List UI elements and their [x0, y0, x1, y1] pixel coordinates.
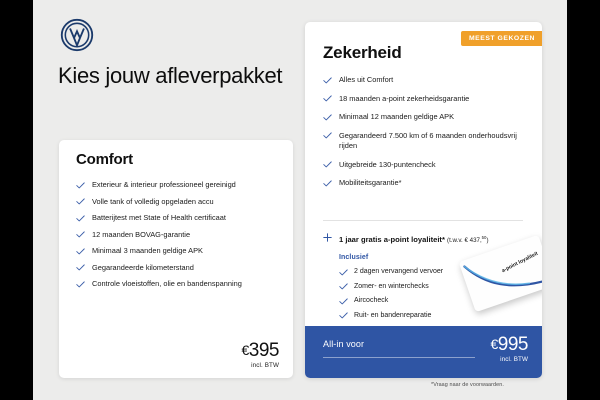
- list-item-label: Minimaal 12 maanden geldige APK: [339, 112, 454, 121]
- check-icon: [339, 269, 348, 276]
- list-item: 18 maanden a-point zekerheidsgarantie: [323, 94, 531, 105]
- volkswagen-logo-icon: [60, 18, 94, 52]
- list-item: Exterieur & interieur professioneel gere…: [76, 180, 281, 191]
- list-item-label: Ruit- en bandenreparatie: [354, 312, 431, 319]
- loyalty-bonus-value: (t.w.v. € 437,50): [447, 237, 488, 244]
- list-item: Minimaal 12 maanden geldige APK: [323, 112, 531, 123]
- page-title: Kies jouw afleverpakket: [58, 62, 308, 89]
- disclaimer-text: *Vraag naar de voorwaarden.: [431, 382, 567, 388]
- list-item: Ruit- en bandenreparatie: [339, 311, 489, 320]
- loyalty-card-image: a-point loyaliteit: [459, 235, 542, 312]
- zekerheid-card-title: Zekerheid: [323, 43, 402, 63]
- list-item: Controle vloeistoffen, olie en bandenspa…: [76, 279, 281, 290]
- list-item-label: Alles uit Comfort: [339, 75, 393, 84]
- check-icon: [323, 114, 332, 121]
- list-item-label: Batterijtest met State of Health certifi…: [92, 213, 226, 222]
- comfort-price-note: incl. BTW: [242, 362, 280, 369]
- list-item-label: Exterieur & interieur professioneel gere…: [92, 180, 236, 189]
- list-item-label: Mobiliteitsgarantie*: [339, 178, 401, 187]
- list-item-label: 12 maanden BOVAG-garantie: [92, 230, 190, 239]
- zekerheid-price-block: €995 incl. BTW: [491, 334, 529, 363]
- comfort-price: €395: [242, 340, 280, 361]
- comfort-card-title: Comfort: [76, 151, 133, 168]
- list-item: 12 maanden BOVAG-garantie: [76, 230, 281, 241]
- list-item-label: Controle vloeistoffen, olie en bandenspa…: [92, 279, 242, 288]
- list-item: Minimaal 3 maanden geldige APK: [76, 246, 281, 257]
- check-icon: [76, 248, 85, 255]
- footer-rule: [323, 357, 475, 358]
- list-item-label: 18 maanden a-point zekerheidsgarantie: [339, 94, 469, 103]
- comfort-feature-list: Exterieur & interieur professioneel gere…: [76, 180, 281, 296]
- list-item-label: Uitgebreide 130-puntencheck: [339, 160, 436, 169]
- check-icon: [339, 283, 348, 290]
- list-item-label: Aircocheck: [354, 297, 388, 304]
- list-item: Volle tank of volledig opgeladen accu: [76, 197, 281, 208]
- list-item-label: Minimaal 3 maanden geldige APK: [92, 246, 203, 255]
- price-amount: 995: [498, 334, 528, 355]
- list-item-label: Volle tank of volledig opgeladen accu: [92, 197, 214, 206]
- status-badge-most-chosen: MEEST GEKOZEN: [461, 31, 542, 46]
- promo-frame: Kies jouw afleverpakket Comfort Exterieu…: [33, 0, 567, 400]
- section-divider: [323, 220, 523, 221]
- loyalty-bonus-label: 1 jaar gratis a-point loyaliteit*: [339, 235, 445, 244]
- check-icon: [76, 231, 85, 238]
- list-item: Uitgebreide 130-puntencheck: [323, 160, 531, 171]
- check-icon: [76, 264, 85, 271]
- currency-symbol: €: [491, 336, 498, 352]
- zekerheid-price: €995: [491, 334, 529, 355]
- check-icon: [76, 281, 85, 288]
- footer-price-label: All-in voor: [323, 339, 364, 349]
- list-item: Batterijtest met State of Health certifi…: [76, 213, 281, 224]
- list-item: Mobiliteitsgarantie*: [323, 178, 531, 189]
- check-icon: [76, 198, 85, 205]
- check-icon: [323, 132, 332, 139]
- list-item: Gegarandeerd 7.500 km of 6 maanden onder…: [323, 131, 531, 152]
- zekerheid-feature-list: Alles uit Comfort 18 maanden a-point zek…: [323, 75, 531, 197]
- currency-symbol: €: [242, 342, 249, 358]
- check-icon: [323, 161, 332, 168]
- zekerheid-price-note: incl. BTW: [491, 356, 529, 363]
- price-amount: 395: [249, 340, 279, 361]
- list-item: Gegarandeerde kilometerstand: [76, 263, 281, 274]
- list-item-label: Gegarandeerd 7.500 km of 6 maanden onder…: [339, 131, 517, 151]
- plus-icon: [323, 233, 332, 242]
- list-item: Alles uit Comfort: [323, 75, 531, 86]
- check-icon: [339, 298, 348, 305]
- check-icon: [323, 180, 332, 187]
- package-card-zekerheid[interactable]: MEEST GEKOZEN Zekerheid Alles uit Comfor…: [305, 22, 542, 378]
- list-item-label: Zomer- en winterchecks: [354, 283, 429, 290]
- check-icon: [339, 312, 348, 319]
- check-icon: [323, 77, 332, 84]
- package-card-comfort[interactable]: Comfort Exterieur & interieur profession…: [59, 140, 293, 378]
- list-item: Aircocheck: [339, 296, 489, 305]
- list-item-label: Gegarandeerde kilometerstand: [92, 263, 194, 272]
- comfort-price-block: €395 incl. BTW: [242, 340, 280, 369]
- included-section-title: Inclusief: [339, 254, 368, 261]
- loyalty-bonus-row: 1 jaar gratis a-point loyaliteit* (t.w.v…: [323, 232, 538, 246]
- list-item-label: 2 dagen vervangend vervoer: [354, 268, 443, 275]
- zekerheid-price-footer: All-in voor €995 incl. BTW: [305, 326, 542, 378]
- check-icon: [76, 215, 85, 222]
- check-icon: [76, 182, 85, 189]
- check-icon: [323, 95, 332, 102]
